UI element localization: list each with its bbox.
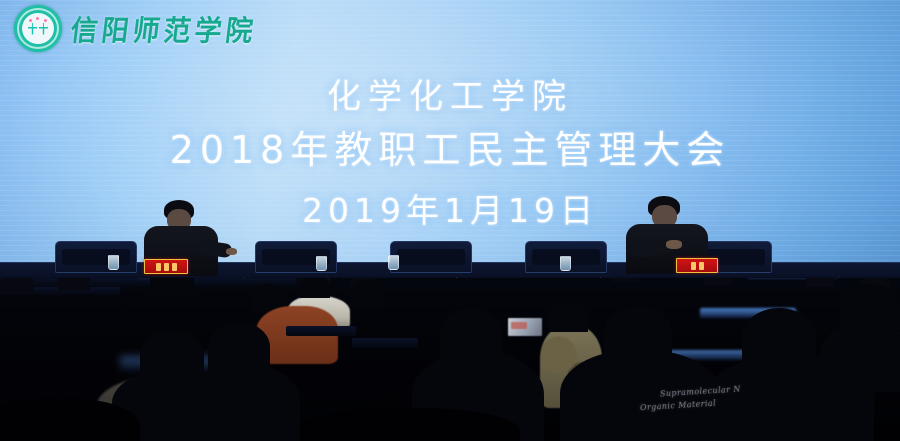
- nameplate-right: [676, 258, 718, 273]
- slide-line-date: 2019年1月19日: [0, 190, 900, 232]
- water-cup: [388, 255, 399, 270]
- audience-area: Supramolecular N Organic Material: [0, 278, 900, 441]
- slide-line-department: 化学化工学院: [0, 76, 900, 120]
- university-name: 信阳师范学院: [68, 8, 259, 49]
- audience-laptop-screen: [508, 318, 542, 336]
- projection-screen: 信阳师范学院 化学化工学院 2018年教职工民主管理大会 2019年1月19日: [0, 0, 900, 278]
- water-cup: [108, 255, 119, 270]
- slide-header: 信阳师范学院: [14, 5, 257, 52]
- water-cup: [560, 256, 571, 271]
- screenshot-root: 信阳师范学院 化学化工学院 2018年教职工民主管理大会 2019年1月19日: [0, 0, 900, 441]
- water-cup: [316, 256, 327, 271]
- chair-back: [390, 241, 472, 273]
- university-crest-icon: [14, 5, 62, 52]
- slide-body: 化学化工学院 2018年教职工民主管理大会 2019年1月19日: [0, 76, 900, 232]
- slide-line-event-title: 2018年教职工民主管理大会: [0, 126, 900, 175]
- chair-back: [55, 241, 137, 273]
- nameplate-left: [144, 259, 188, 274]
